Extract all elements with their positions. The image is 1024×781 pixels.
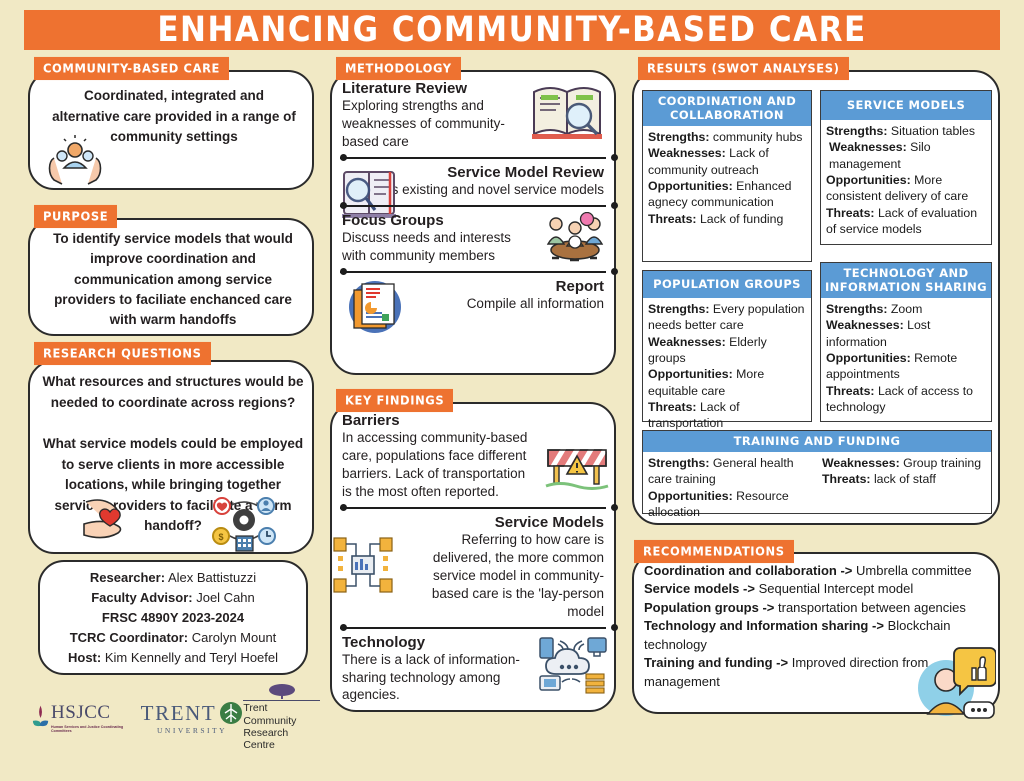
methodology-separator xyxy=(340,267,606,276)
poster-title-bar: ENHANCING COMMUNITY-BASED CARE xyxy=(24,10,1000,50)
swot-row: Weaknesses: Silo management xyxy=(826,139,986,172)
swot-row: Opportunities: Enhanced agnecy communica… xyxy=(648,178,806,211)
swot-body: Strengths: Situation tables Weaknesses: … xyxy=(821,120,991,241)
methodology-item-report: Report Compile all information xyxy=(332,278,614,319)
report-document-icon xyxy=(344,278,406,336)
tag-results: RESULTS (SWOT ANALYSES) xyxy=(638,57,849,80)
swot-row: Opportunities: More equitable care xyxy=(648,366,806,399)
key-finding-item-barriers: Barriers In accessing community-based ca… xyxy=(332,404,614,501)
swot-title: TECHNOLOGY AND INFORMATION SHARING xyxy=(821,263,991,298)
network-diagram-icon xyxy=(332,536,394,594)
recommendation-item: Coordination and collaboration -> Umbrel… xyxy=(638,562,994,580)
tag-purpose: PURPOSE xyxy=(34,205,117,228)
key-finding-item-technology: Technology There is a lack of informatio… xyxy=(332,634,614,705)
hand-heart-icon xyxy=(78,494,150,550)
credit-row: Host: Kim Kennelly and Teryl Hoefel xyxy=(46,651,300,664)
swot-row: Strengths: Situation tables xyxy=(826,123,986,139)
card-results: COORDINATION AND COLLABORATION Strengths… xyxy=(632,70,1000,525)
tag-recommendations: RECOMMENDATIONS xyxy=(634,540,794,563)
credit-row: TCRC Coordinator: Carolyn Mount xyxy=(46,631,300,644)
swot-row: Weaknesses: Lack of community outreach xyxy=(648,145,806,178)
swot-title: COORDINATION AND COLLABORATION xyxy=(643,91,811,126)
swot-body: Strengths: community hubs Weaknesses: La… xyxy=(643,126,811,231)
key-finding-body: There is a lack of information-sharing t… xyxy=(342,651,554,705)
recommendation-item: Population groups -> transportation betw… xyxy=(638,599,994,617)
methodology-body: Exploring strengths and weaknesses of co… xyxy=(342,97,522,151)
swot-box-technology-and-information-sharing: TECHNOLOGY AND INFORMATION SHARING Stren… xyxy=(820,262,992,422)
swot-box-service-models: SERVICE MODELS Strengths: Situation tabl… xyxy=(820,90,992,245)
tag-community-based-care: COMMUNITY-BASED CARE xyxy=(34,57,229,80)
swot-box-population-groups: POPULATION GROUPS Strengths: Every popul… xyxy=(642,270,812,422)
research-question-1: What resources and structures would be n… xyxy=(40,372,306,413)
swot-row: Strengths: Zoom xyxy=(826,301,986,317)
credit-row: Faculty Advisor: Joel Cahn xyxy=(46,591,300,604)
swot-row: Opportunities: Remote appointments xyxy=(826,350,986,383)
swot-column-left: Strengths: General health care training … xyxy=(643,452,817,524)
card-community-based-care: Coordinated, integrated and alternative … xyxy=(28,70,314,190)
card-purpose: To identify service models that would im… xyxy=(28,218,314,336)
key-finding-body: In accessing community-based care, popul… xyxy=(342,429,538,501)
purpose-body: To identify service models that would im… xyxy=(42,229,304,330)
poster-root: ENHANCING COMMUNITY-BASED CARE COMMUNITY… xyxy=(0,0,1024,781)
tcrc-logo-text: Trent Community Research Centre xyxy=(243,700,320,752)
key-finding-separator xyxy=(340,503,606,512)
open-book-magnifier-icon xyxy=(528,78,606,144)
credits-list: Researcher: Alex Battistuzzi Faculty Adv… xyxy=(40,562,306,664)
swot-body: Strengths: Zoom Weaknesses: Lost informa… xyxy=(821,298,991,419)
swot-row: Strengths: General health care training xyxy=(648,455,812,488)
card-recommendations: Coordination and collaboration -> Umbrel… xyxy=(632,552,1000,714)
swot-row: Threats: Lack of evaluation of service m… xyxy=(826,205,986,238)
swot-row: Threats: Lack of funding xyxy=(648,211,806,227)
methodology-separator xyxy=(340,201,606,210)
swot-column-right: Weaknesses: Group training Threats: lack… xyxy=(817,452,991,524)
hsjcc-mark-icon xyxy=(30,703,51,733)
hsjcc-logo-subtext: Human Services and Justice Coordinating … xyxy=(51,725,141,734)
card-credits: Researcher: Alex Battistuzzi Faculty Adv… xyxy=(38,560,308,675)
methodology-separator xyxy=(340,153,606,162)
swot-body: Strengths: Every population needs better… xyxy=(643,298,811,436)
key-finding-separator xyxy=(340,623,606,632)
key-finding-item-service-models: Service Models Referring to how care is … xyxy=(332,514,614,621)
swot-title: POPULATION GROUPS xyxy=(643,271,811,298)
cloud-devices-icon xyxy=(536,636,608,694)
credit-row: Researcher: Alex Battistuzzi xyxy=(46,571,300,584)
swot-row: Weaknesses: Elderly groups xyxy=(648,334,806,367)
swot-box-coordination-and-collaboration: COORDINATION AND COLLABORATION Strengths… xyxy=(642,90,812,262)
trent-logo-text: TRENT xyxy=(141,701,217,726)
hands-holding-people-icon xyxy=(44,134,106,186)
methodology-body: Discuss needs and interests with communi… xyxy=(342,229,538,265)
recommendation-item: Service models -> Sequential Intercept m… xyxy=(638,580,994,598)
methodology-item-literature-review: Literature Review Exploring strengths an… xyxy=(332,72,614,151)
methodology-item-service-model-review: Service Model Review Assess existing and… xyxy=(332,164,614,199)
key-finding-body: Referring to how care is delivered, the … xyxy=(400,531,604,621)
page-title: ENHANCING COMMUNITY-BASED CARE xyxy=(157,10,866,50)
swot-row: Strengths: Every population needs better… xyxy=(648,301,806,334)
gear-network-icon: $ xyxy=(208,490,280,552)
card-key-findings: Barriers In accessing community-based ca… xyxy=(330,402,616,712)
swot-body: Strengths: General health care training … xyxy=(643,452,991,524)
focus-group-people-icon xyxy=(540,212,610,268)
credit-row: FRSC 4890Y 2023-2024 xyxy=(46,611,300,624)
swot-row: Weaknesses: Group training xyxy=(822,455,986,471)
logo-strip: HSJCC Human Services and Justice Coordin… xyxy=(30,690,320,745)
swot-title: TRAINING AND FUNDING xyxy=(643,431,991,452)
tcrc-logo: Trent Community Research Centre xyxy=(243,683,320,752)
hsjcc-logo: HSJCC Human Services and Justice Coordin… xyxy=(30,702,141,734)
trent-university-logo: TRENT UNIVERSITY xyxy=(141,701,244,735)
swot-row: Threats: Lack of transportation xyxy=(648,399,806,432)
trent-logo-subtext: UNIVERSITY xyxy=(157,726,227,735)
trent-tree-icon xyxy=(219,701,243,725)
swot-row: Weaknesses: Lost information xyxy=(826,317,986,350)
person-thumbs-up-icon xyxy=(912,644,996,722)
hsjcc-logo-text: HSJCC xyxy=(51,702,141,724)
key-finding-heading: Barriers xyxy=(342,412,604,429)
svg-text:$: $ xyxy=(218,532,223,542)
swot-row: Threats: lack of staff xyxy=(822,471,986,487)
swot-title: SERVICE MODELS xyxy=(821,91,991,120)
swot-box-training-and-funding: TRAINING AND FUNDING Strengths: General … xyxy=(642,430,992,514)
card-research-questions: What resources and structures would be n… xyxy=(28,360,314,554)
road-barrier-icon xyxy=(544,442,610,494)
methodology-item-focus-groups: Focus Groups Discuss needs and interests… xyxy=(332,212,614,265)
swot-row: Threats: Lack of access to technology xyxy=(826,383,986,416)
tag-research-questions: RESEARCH QUESTIONS xyxy=(34,342,211,365)
card-methodology: Literature Review Exploring strengths an… xyxy=(330,70,616,375)
swot-row: Strengths: community hubs xyxy=(648,129,806,145)
key-finding-heading: Service Models xyxy=(342,514,604,531)
tag-key-findings: KEY FINDINGS xyxy=(336,389,453,412)
tag-methodology: METHODOLOGY xyxy=(336,57,461,80)
swot-row: Opportunities: More consistent delivery … xyxy=(826,172,986,205)
swot-row: Opportunities: Resource allocation xyxy=(648,488,812,521)
tcrc-tree-icon xyxy=(262,683,302,700)
